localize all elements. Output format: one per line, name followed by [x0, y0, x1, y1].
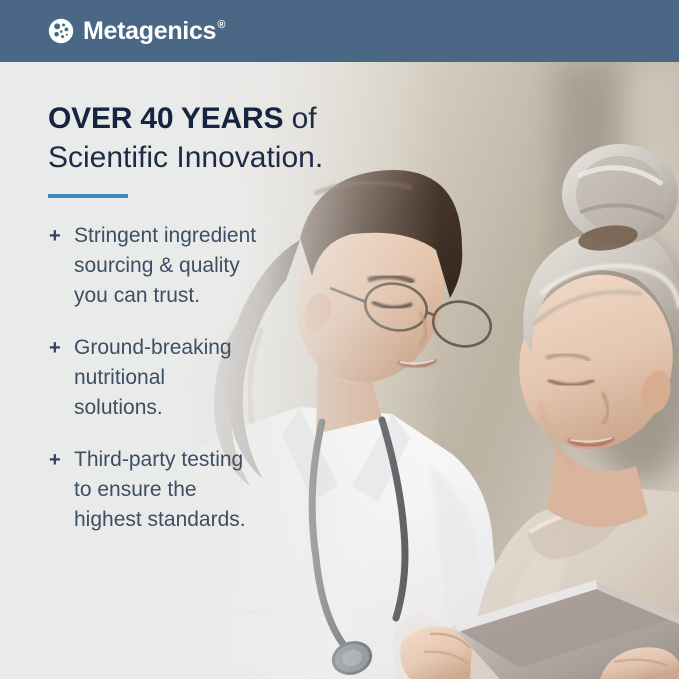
headline-line-1: OVER 40 YEARS of: [48, 100, 448, 138]
benefit-text: Ground-breaking nutritional solutions.: [74, 333, 232, 423]
brand-name-text: Metagenics: [83, 17, 216, 45]
metagenics-logo-icon: [48, 18, 74, 44]
list-item: + Stringent ingredient sourcing & qualit…: [44, 221, 444, 311]
plus-icon: +: [44, 445, 74, 475]
accent-divider: [48, 194, 128, 198]
headline-line-2: Scientific Innovation.: [48, 138, 448, 178]
brand-header-bar: Metagenics ®: [0, 0, 679, 62]
headline-block: OVER 40 YEARS of Scientific Innovation.: [48, 100, 448, 178]
registered-trademark-icon: ®: [217, 20, 225, 31]
list-item: + Ground-breaking nutritional solutions.: [44, 333, 444, 423]
benefit-text: Stringent ingredient sourcing & quality …: [74, 221, 256, 311]
brand-name: Metagenics ®: [83, 19, 216, 44]
headline-suffix: of: [283, 102, 316, 135]
plus-icon: +: [44, 221, 74, 251]
plus-icon: +: [44, 333, 74, 363]
brand-lockup[interactable]: Metagenics ®: [48, 0, 216, 62]
headline-emphasis: OVER 40 YEARS: [48, 102, 283, 135]
list-item: + Third-party testing to ensure the high…: [44, 445, 444, 535]
benefit-text: Third-party testing to ensure the highes…: [74, 445, 246, 535]
hero-content: OVER 40 YEARS of Scientific Innovation. …: [0, 62, 679, 679]
advertisement-banner: Metagenics ® OVER 40 YEARS of Scientific…: [0, 0, 679, 679]
benefit-list: + Stringent ingredient sourcing & qualit…: [44, 221, 444, 557]
